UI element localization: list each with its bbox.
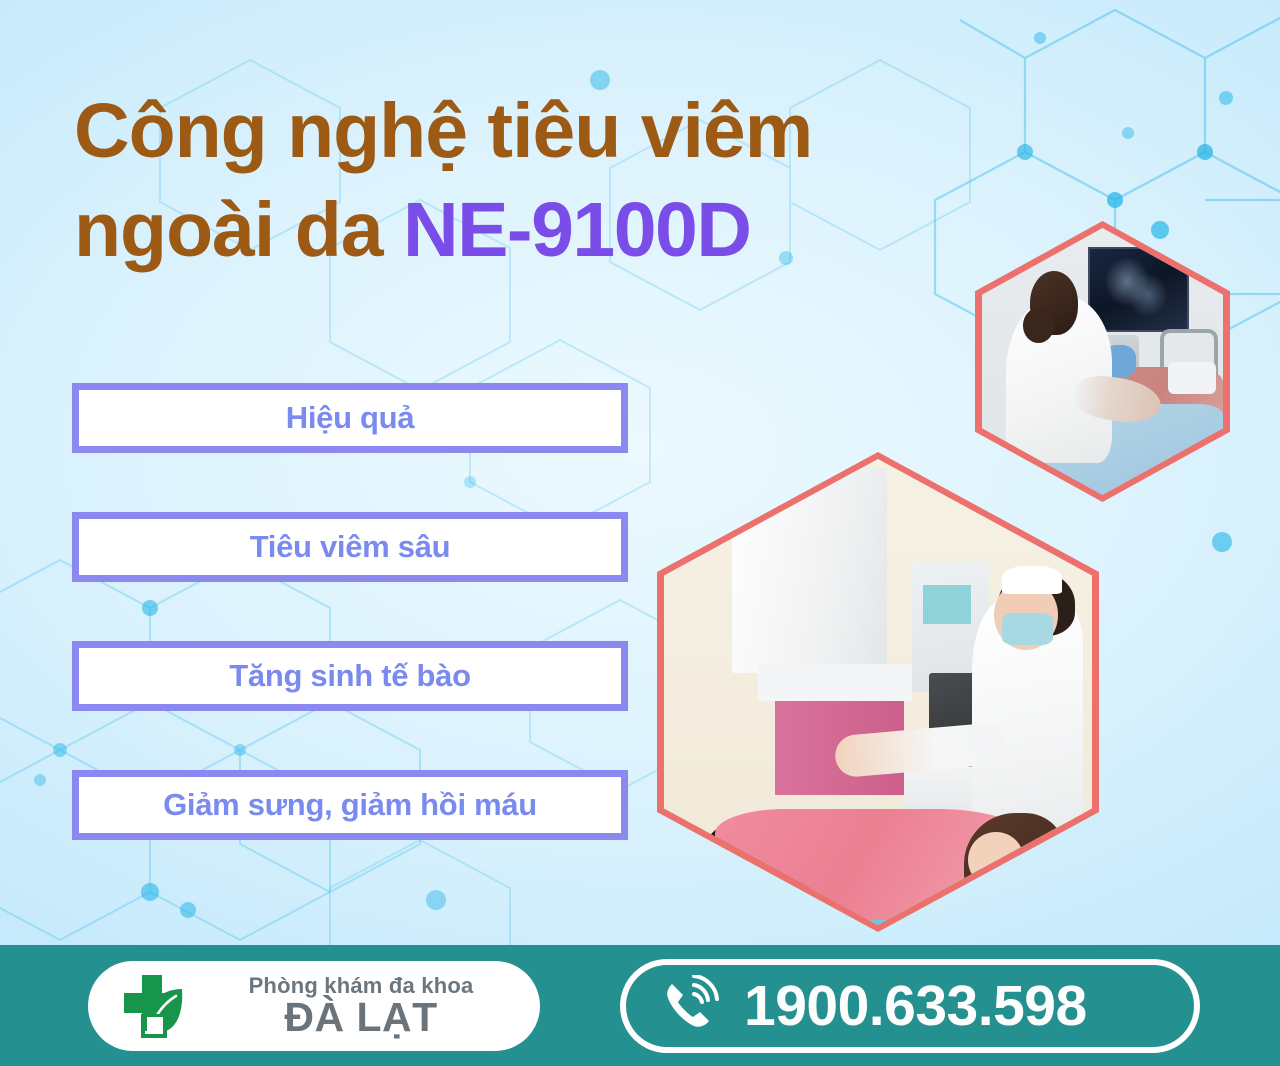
ultrasound-room-photo [982, 228, 1223, 495]
promo-banner: Công nghệ tiêu viêm ngoài da NE-9100D Hi… [0, 0, 1280, 1066]
phone-number: 1900.633.598 [744, 973, 1087, 1039]
doctor-hair-bun [1023, 308, 1054, 343]
feature-label-3: Tăng sinh tế bào [229, 658, 471, 694]
phone-cta[interactable]: 1900.633.598 [620, 959, 1200, 1053]
clinic-name: ĐÀ LẠT [284, 997, 437, 1039]
headline-line-2: ngoài da NE-9100D [74, 181, 1004, 280]
feature-box-3[interactable]: Tăng sinh tế bào [72, 641, 628, 711]
feature-box-4[interactable]: Giảm sưng, giảm hồi máu [72, 770, 628, 840]
clinic-text-block: Phòng khám đa khoa ĐÀ LẠT [204, 974, 540, 1039]
product-model-name: NE-9100D [403, 187, 751, 273]
feature-box-1[interactable]: Hiệu quả [72, 383, 628, 453]
nurse-face-mask [1002, 613, 1053, 646]
headline-line-2-prefix: ngoài da [74, 187, 403, 273]
green-cross-leaf-icon [116, 969, 190, 1043]
ringing-phone-icon [658, 975, 720, 1037]
feature-list: Hiệu quả Tiêu viêm sâu Tăng sinh tế bào … [72, 383, 628, 840]
scanner-base [758, 664, 912, 701]
footer-bar: Phòng khám đa khoa ĐÀ LẠT 1900.633.598 [0, 945, 1280, 1066]
feature-label-1: Hiệu quả [286, 400, 415, 436]
headline: Công nghệ tiêu viêm ngoài da NE-9100D [74, 82, 1004, 279]
headline-line-1: Công nghệ tiêu viêm [74, 82, 1004, 181]
feature-box-2[interactable]: Tiêu viêm sâu [72, 512, 628, 582]
clinic-branding[interactable]: Phòng khám đa khoa ĐÀ LẠT [88, 961, 540, 1051]
nurse-cap [1002, 566, 1062, 594]
hexagon-photo-ultrasound-inner [982, 228, 1223, 495]
feature-label-4: Giảm sưng, giảm hồi máu [163, 787, 537, 823]
pillow [1168, 362, 1216, 394]
feature-label-2: Tiêu viêm sâu [250, 529, 451, 565]
